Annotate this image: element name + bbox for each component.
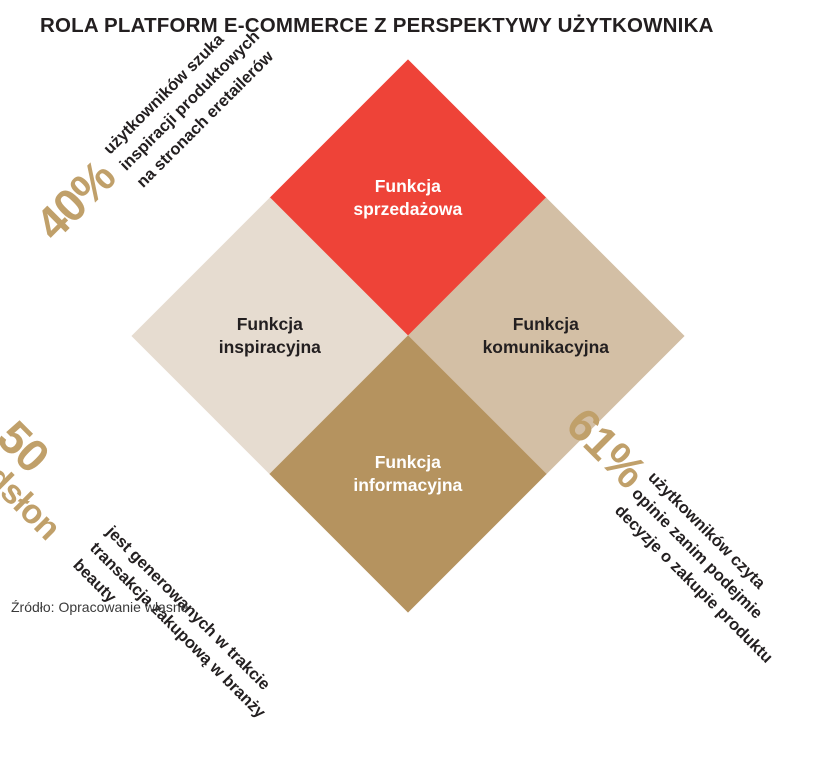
source-note: Źródło: Opracowanie własne <box>11 599 188 615</box>
page-title: ROLA PLATFORM E-COMMERCE Z PERSPEKTYWY U… <box>40 14 780 38</box>
diamond-label-inspiracyjna: Funkcja inspiracyjna <box>175 313 365 360</box>
stat-value-40: 40% <box>27 152 123 248</box>
diamond-label-komunikacyjna: Funkcja komunikacyjna <box>451 313 641 360</box>
annotation-stat-61: 61% użytkowników czyta opinie zanim pode… <box>529 387 813 695</box>
diamond-label-sprzedazowa: Funkcja sprzedażowa <box>313 175 503 222</box>
stat-description-50: jest generowanych w trakcie transakcja z… <box>67 521 298 752</box>
diamond-label-informacyjna: Funkcja informacyjna <box>313 451 503 498</box>
stat-description-61: użytkowników czyta opinie zanim podejmie… <box>609 467 811 669</box>
diamond-diagram: Funkcja sprzedażowa Funkcja inspiracyjna… <box>0 55 813 555</box>
